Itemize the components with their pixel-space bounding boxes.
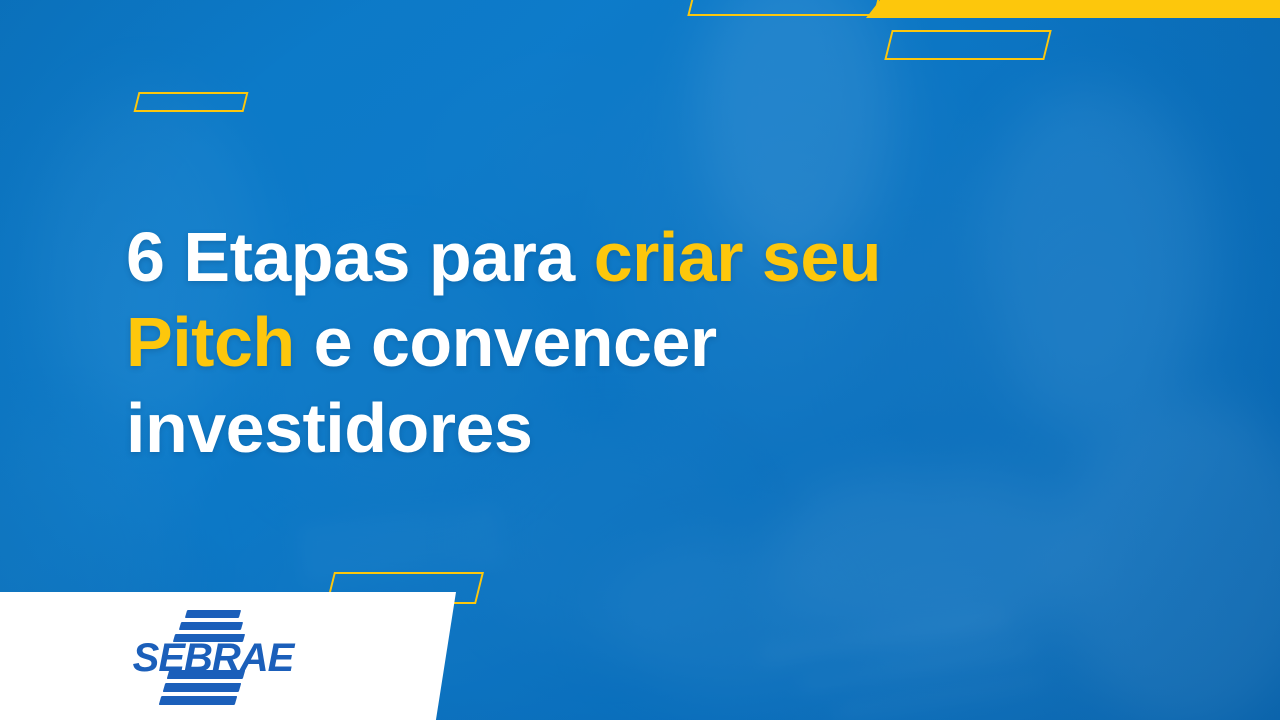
slide-title: 6 Etapas para criar seu Pitch e convence… — [126, 215, 1176, 471]
outlined-parallelogram-top-center — [687, 0, 880, 16]
title-card-slide: 6 Etapas para criar seu Pitch e convence… — [0, 0, 1280, 720]
slide-title-line-1: 6 Etapas para criar seu — [126, 215, 1176, 300]
slide-title-line-3: investidores — [126, 386, 1176, 471]
sebrae-logo-bar-bottom-1 — [167, 670, 246, 679]
sebrae-logo-bar-top-2 — [179, 622, 243, 630]
slide-title-line-2-highlight: Pitch — [126, 303, 295, 381]
sebrae-logo: SEBRAE — [128, 608, 298, 704]
slide-title-line-2: Pitch e convencer — [126, 300, 1176, 385]
slide-title-line-3-plain: investidores — [126, 389, 532, 467]
sebrae-logo-bar-top-1 — [185, 610, 241, 618]
outlined-parallelogram-top-right — [884, 30, 1051, 60]
outlined-parallelogram-left — [134, 92, 249, 112]
sebrae-logo-bar-bottom-3 — [159, 696, 238, 705]
slide-title-line-1-plain: 6 Etapas para — [126, 218, 594, 296]
logo-panel: SEBRAE — [0, 592, 456, 720]
yellow-accent-bar — [866, 0, 1280, 18]
slide-title-line-2-plain: e convencer — [295, 303, 717, 381]
slide-title-line-1-highlight: criar seu — [594, 218, 881, 296]
sebrae-logo-bar-bottom-2 — [163, 683, 242, 692]
